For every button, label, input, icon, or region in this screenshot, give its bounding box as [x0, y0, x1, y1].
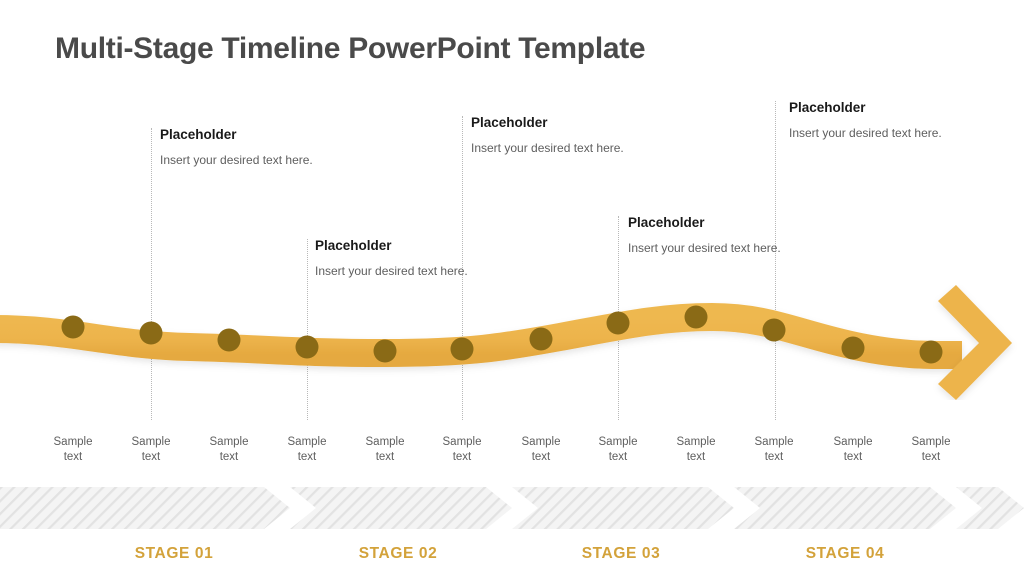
milestone-label-line2-11: text — [816, 450, 890, 465]
milestone-label-line1-11: Sample — [816, 435, 890, 450]
timeline-ribbon — [0, 285, 1024, 400]
stage-label-2: STAGE 02 — [298, 545, 498, 563]
milestone-label-line1-12: Sample — [894, 435, 968, 450]
milestone-label-line2-6: text — [425, 450, 499, 465]
milestone-label-7: Sampletext — [504, 435, 578, 465]
milestone-label-12: Sampletext — [894, 435, 968, 465]
milestone-label-line1-5: Sample — [348, 435, 422, 450]
milestone-label-1: Sampletext — [36, 435, 110, 465]
callout-body-5: Insert your desired text here. — [789, 125, 949, 142]
milestone-dot-12[interactable] — [920, 341, 943, 364]
milestone-dot-3[interactable] — [218, 329, 241, 352]
milestone-label-2: Sampletext — [114, 435, 188, 465]
milestone-label-line2-8: text — [581, 450, 655, 465]
stage-label-1: STAGE 01 — [74, 545, 274, 563]
callout-block-1[interactable]: PlaceholderInsert your desired text here… — [160, 128, 320, 169]
stage-band-segment-2 — [68, 487, 290, 529]
milestone-dot-8[interactable] — [607, 312, 630, 335]
stage-band — [0, 487, 1024, 529]
milestone-label-line1-1: Sample — [36, 435, 110, 450]
callout-title-3: Placeholder — [471, 116, 631, 131]
callout-block-2[interactable]: PlaceholderInsert your desired text here… — [315, 239, 475, 280]
stage-label-3: STAGE 03 — [521, 545, 721, 563]
milestone-label-line2-2: text — [114, 450, 188, 465]
callout-block-5[interactable]: PlaceholderInsert your desired text here… — [789, 101, 949, 142]
milestone-label-4: Sampletext — [270, 435, 344, 465]
milestone-label-8: Sampletext — [581, 435, 655, 465]
callout-body-3: Insert your desired text here. — [471, 140, 631, 157]
milestone-dot-4[interactable] — [296, 336, 319, 359]
milestone-label-line1-3: Sample — [192, 435, 266, 450]
milestone-label-line1-4: Sample — [270, 435, 344, 450]
milestone-dot-7[interactable] — [530, 328, 553, 351]
page-title: Multi-Stage Timeline PowerPoint Template — [55, 32, 645, 66]
callout-title-2: Placeholder — [315, 239, 475, 254]
milestone-label-line2-7: text — [504, 450, 578, 465]
milestone-label-line2-10: text — [737, 450, 811, 465]
milestone-dot-5[interactable] — [374, 340, 397, 363]
milestone-label-3: Sampletext — [192, 435, 266, 465]
stage-band-segment-4 — [512, 487, 734, 529]
stage-band-segment-6 — [956, 487, 1024, 529]
milestone-dot-9[interactable] — [685, 306, 708, 329]
milestone-label-line1-8: Sample — [581, 435, 655, 450]
milestone-label-line2-4: text — [270, 450, 344, 465]
milestone-label-9: Sampletext — [659, 435, 733, 465]
milestone-label-line1-6: Sample — [425, 435, 499, 450]
milestone-label-6: Sampletext — [425, 435, 499, 465]
milestone-label-11: Sampletext — [816, 435, 890, 465]
milestone-label-line1-9: Sample — [659, 435, 733, 450]
milestone-label-line1-10: Sample — [737, 435, 811, 450]
callout-title-4: Placeholder — [628, 216, 788, 231]
milestone-label-line2-5: text — [348, 450, 422, 465]
milestone-label-line2-12: text — [894, 450, 968, 465]
milestone-label-10: Sampletext — [737, 435, 811, 465]
milestone-dot-11[interactable] — [842, 337, 865, 360]
callout-block-4[interactable]: PlaceholderInsert your desired text here… — [628, 216, 788, 257]
milestone-dot-6[interactable] — [451, 338, 474, 361]
milestone-label-line2-3: text — [192, 450, 266, 465]
milestone-label-line2-1: text — [36, 450, 110, 465]
milestone-label-line1-7: Sample — [504, 435, 578, 450]
slide-canvas: Multi-Stage Timeline PowerPoint Template… — [0, 0, 1024, 576]
milestone-label-line1-2: Sample — [114, 435, 188, 450]
callout-body-4: Insert your desired text here. — [628, 240, 788, 257]
stage-label-4: STAGE 04 — [745, 545, 945, 563]
callout-body-2: Insert your desired text here. — [315, 263, 475, 280]
callout-body-1: Insert your desired text here. — [160, 152, 320, 169]
callout-title-1: Placeholder — [160, 128, 320, 143]
callout-title-5: Placeholder — [789, 101, 949, 116]
stage-band-segment-3 — [290, 487, 512, 529]
stage-band-segment-5 — [734, 487, 956, 529]
milestone-label-line2-9: text — [659, 450, 733, 465]
callout-block-3[interactable]: PlaceholderInsert your desired text here… — [471, 116, 631, 157]
milestone-dot-2[interactable] — [140, 322, 163, 345]
milestone-dot-1[interactable] — [62, 316, 85, 339]
milestone-dot-10[interactable] — [763, 319, 786, 342]
milestone-label-5: Sampletext — [348, 435, 422, 465]
